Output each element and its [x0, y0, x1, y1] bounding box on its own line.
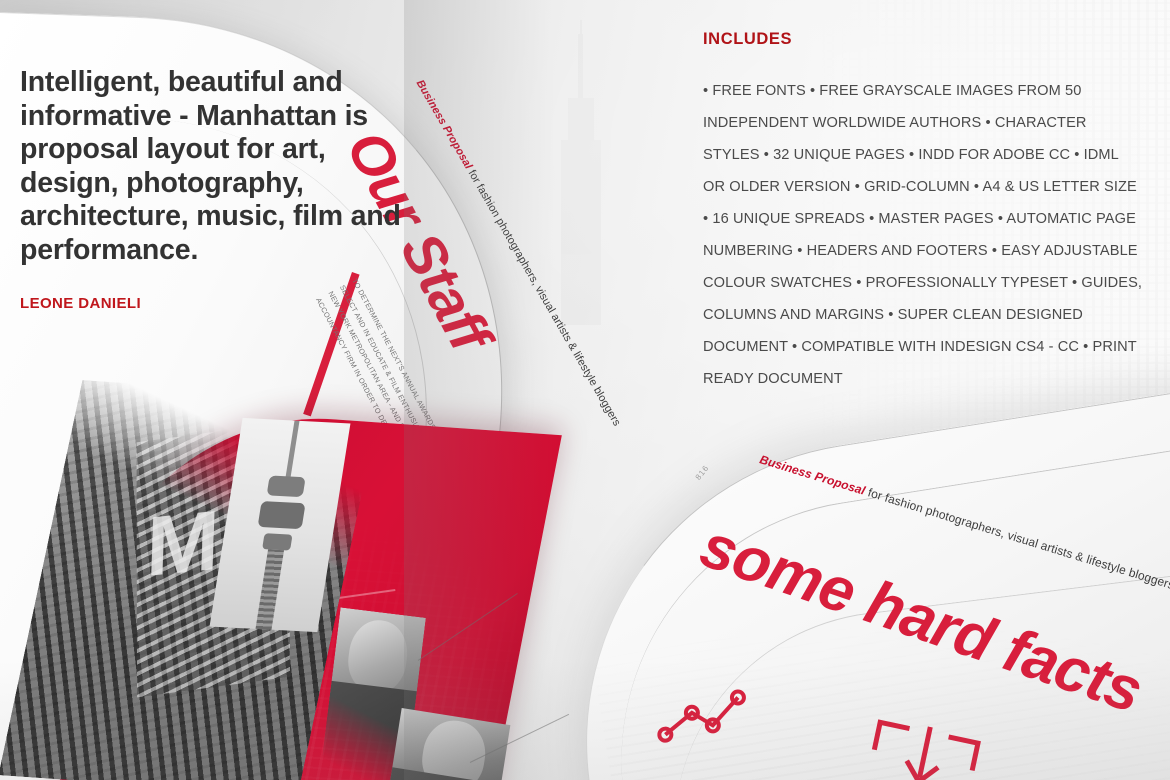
includes-heading: INCLUDES	[703, 30, 1143, 49]
page-folio: 816	[694, 463, 711, 481]
includes-panel: INCLUDES • FREE FONTS • FREE GRAYSCALE I…	[703, 30, 1143, 395]
promo-copy-block: Intelligent, beautiful and informative -…	[20, 66, 420, 312]
page-title: Intelligent, beautiful and informative -…	[20, 66, 420, 267]
preview-canvas: Business Proposal for fashion photograph…	[0, 0, 1170, 780]
author-name: LEONE DANIELI	[20, 295, 420, 312]
includes-feature-list: • FREE FONTS • FREE GRAYSCALE IMAGES FRO…	[703, 75, 1143, 395]
line-chart-icon	[653, 683, 753, 746]
